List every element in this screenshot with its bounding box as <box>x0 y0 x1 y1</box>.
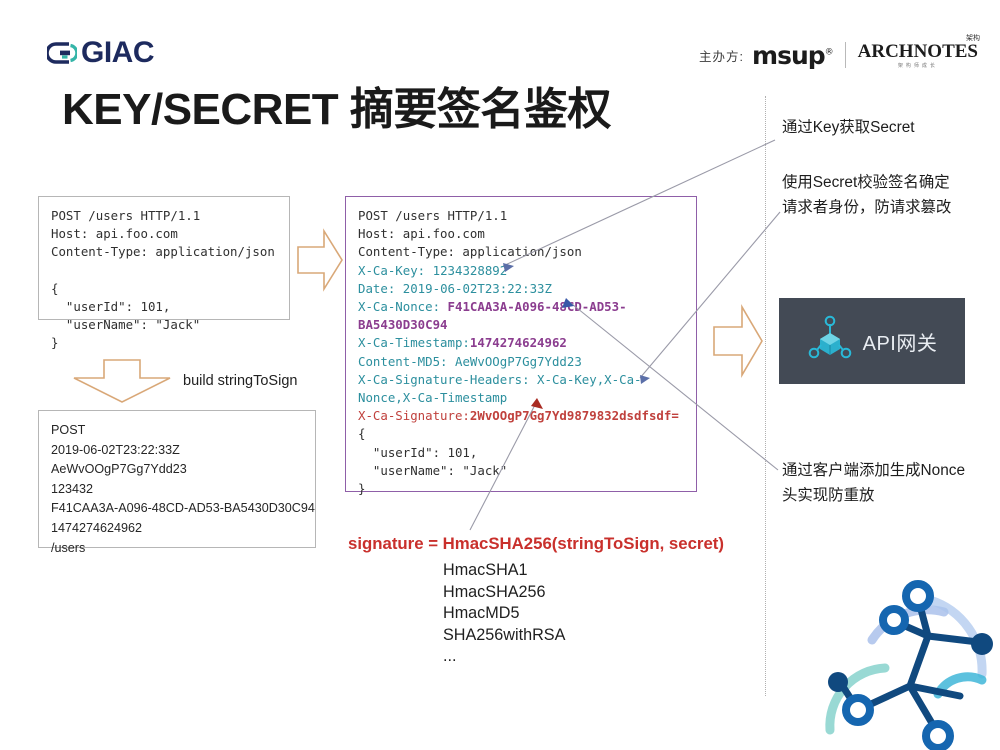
header-signature-headers-name: X-Ca-Signature-Headers: <box>358 372 537 387</box>
header-x-ca-timestamp-value: 1474274624962 <box>470 335 567 350</box>
header-x-ca-signature-value: 2WvOOgP7Gg7Yd9879832dsdfsdf= <box>470 408 679 423</box>
arrow-request-to-signed-icon <box>296 227 344 298</box>
build-string-to-sign-label: build stringToSign <box>183 373 297 389</box>
algorithm-list: HmacSHA1 HmacSHA256 HmacMD5 SHA256withRS… <box>443 560 565 668</box>
signed-request-box: POST /users HTTP/1.1 Host: api.foo.com C… <box>345 196 697 492</box>
signed-request-body: { "userId": 101, "userName": "Jack" } <box>358 426 507 496</box>
api-gateway-card: API网关 <box>779 298 965 384</box>
header-date-name: Date: <box>358 281 403 296</box>
note-nonce-replay-protection: 通过客户端添加生成Nonce头实现防重放 <box>782 458 967 508</box>
signed-request-text: POST /users HTTP/1.1 Host: api.foo.com C… <box>358 207 684 498</box>
sponsor-divider <box>845 42 846 68</box>
header-signature-headers-value-cont: Nonce,X-Ca-Timestamp <box>358 390 507 405</box>
header-content-md5-value: AeWvOOgP7Gg7Ydd23 <box>455 354 582 369</box>
arrow-signed-to-gateway-icon <box>712 303 764 384</box>
page-title: KEY/SECRET 摘要签名鉴权 <box>62 82 611 137</box>
api-gateway-label: API网关 <box>863 327 938 356</box>
original-request-box: POST /users HTTP/1.1 Host: api.foo.com C… <box>38 196 290 320</box>
header-content-md5-name: Content-MD5: <box>358 354 455 369</box>
signed-line-request: POST /users HTTP/1.1 <box>358 208 507 223</box>
note-verify-signature: 使用Secret校验签名确定请求者身份，防请求篡改 <box>782 170 962 220</box>
original-request-text: POST /users HTTP/1.1 Host: api.foo.com C… <box>51 207 277 353</box>
giac-wordmark: GIAC <box>81 36 154 70</box>
string-to-sign-box: POST 2019-06-02T23:22:33Z AeWvOOgP7Gg7Yd… <box>38 410 316 548</box>
api-gateway-cube-icon <box>807 314 853 369</box>
note-get-secret-by-key: 通过Key获取Secret <box>782 115 997 140</box>
msup-registered-mark: ® <box>825 47 833 57</box>
decorative-network-graphic <box>810 570 1000 750</box>
archnotes-logo: ARCHNOTES 架构 架构师成长 <box>858 41 978 69</box>
header-x-ca-nonce-value: F41CAA3A-A096-48CD-AD53- <box>448 299 627 314</box>
msup-logo: msup® <box>752 41 833 70</box>
slide-root: GIAC 主办方: msup® ARCHNOTES 架构 架构师成长 KEY/S… <box>0 0 1000 750</box>
signature-formula: signature = HmacSHA256(stringToSign, sec… <box>348 534 724 554</box>
archnotes-text: ARCHNOTES <box>858 41 978 63</box>
header-x-ca-nonce-name: X-Ca-Nonce: <box>358 299 448 314</box>
giac-logo: GIAC <box>47 36 154 70</box>
header-x-ca-signature-name: X-Ca-Signature: <box>358 408 470 423</box>
string-to-sign-text: POST 2019-06-02T23:22:33Z AeWvOOgP7Gg7Yd… <box>51 421 303 558</box>
header-x-ca-key-value: 1234328892 <box>433 263 508 278</box>
header-x-ca-timestamp-name: X-Ca-Timestamp: <box>358 335 470 350</box>
signed-line-host: Host: api.foo.com <box>358 226 485 241</box>
header-x-ca-key-name: X-Ca-Key: <box>358 263 433 278</box>
msup-text: msup <box>752 41 825 70</box>
vertical-dotted-divider <box>765 96 766 696</box>
signed-line-content-type: Content-Type: application/json <box>358 244 582 259</box>
arrow-build-string-icon <box>70 358 174 409</box>
archnotes-subtitle: 架构师成长 <box>898 62 938 69</box>
sponsor-strip: 主办方: msup® ARCHNOTES 架构 架构师成长 <box>699 40 978 70</box>
header-date-value: 2019-06-02T23:22:33Z <box>403 281 552 296</box>
archnotes-cn-text: 架构 <box>966 33 980 43</box>
header-signature-headers-value: X-Ca-Key,X-Ca- <box>537 372 641 387</box>
giac-mark-icon <box>47 38 77 68</box>
header-x-ca-nonce-value-cont: BA5430D30C94 <box>358 317 448 332</box>
sponsor-label: 主办方: <box>699 46 744 65</box>
